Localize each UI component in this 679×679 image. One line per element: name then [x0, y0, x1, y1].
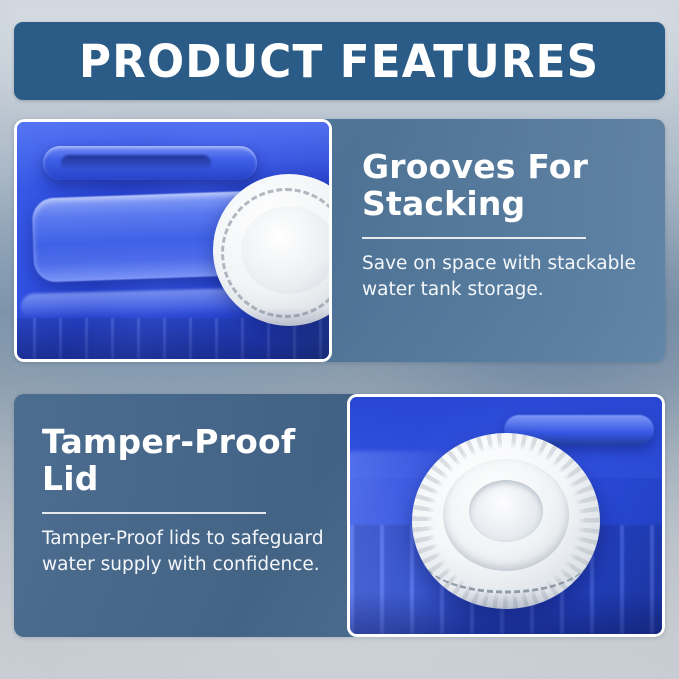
jug-bottom-shadow-2 — [350, 591, 662, 634]
jug-handle-recess — [61, 155, 211, 171]
feature-card-grooves: Grooves For Stacking Save on space with … — [14, 119, 665, 362]
feature-text-grooves: Grooves For Stacking Save on space with … — [332, 119, 665, 362]
feature-title-tamper-proof-lid: Tamper-Proof Lid — [42, 424, 325, 498]
feature-description-tamper-proof-lid: Tamper-Proof lids to safeguard water sup… — [42, 526, 325, 579]
jug-bottom-shadow — [17, 307, 329, 359]
feature-card-tamper-proof-lid: Tamper-Proof Lid Tamper-Proof lids to sa… — [14, 394, 665, 637]
tamper-proof-lid-inner — [469, 480, 543, 542]
feature-image-tamper-proof-lid — [347, 394, 665, 637]
product-features-infographic: PRODUCT FEATURES Grooves For Stacking Sa… — [0, 0, 679, 679]
feature-description-grooves: Save on space with stackable water tank … — [362, 251, 639, 304]
feature-divider — [362, 237, 586, 239]
feature-title-grooves: Grooves For Stacking — [362, 149, 639, 223]
feature-image-grooves — [14, 119, 332, 362]
page-title: PRODUCT FEATURES — [79, 39, 599, 84]
jug-cap-top — [241, 206, 332, 294]
feature-divider-2 — [42, 512, 266, 514]
header-banner: PRODUCT FEATURES — [14, 22, 665, 100]
feature-text-tamper-proof-lid: Tamper-Proof Lid Tamper-Proof lids to sa… — [14, 394, 347, 637]
